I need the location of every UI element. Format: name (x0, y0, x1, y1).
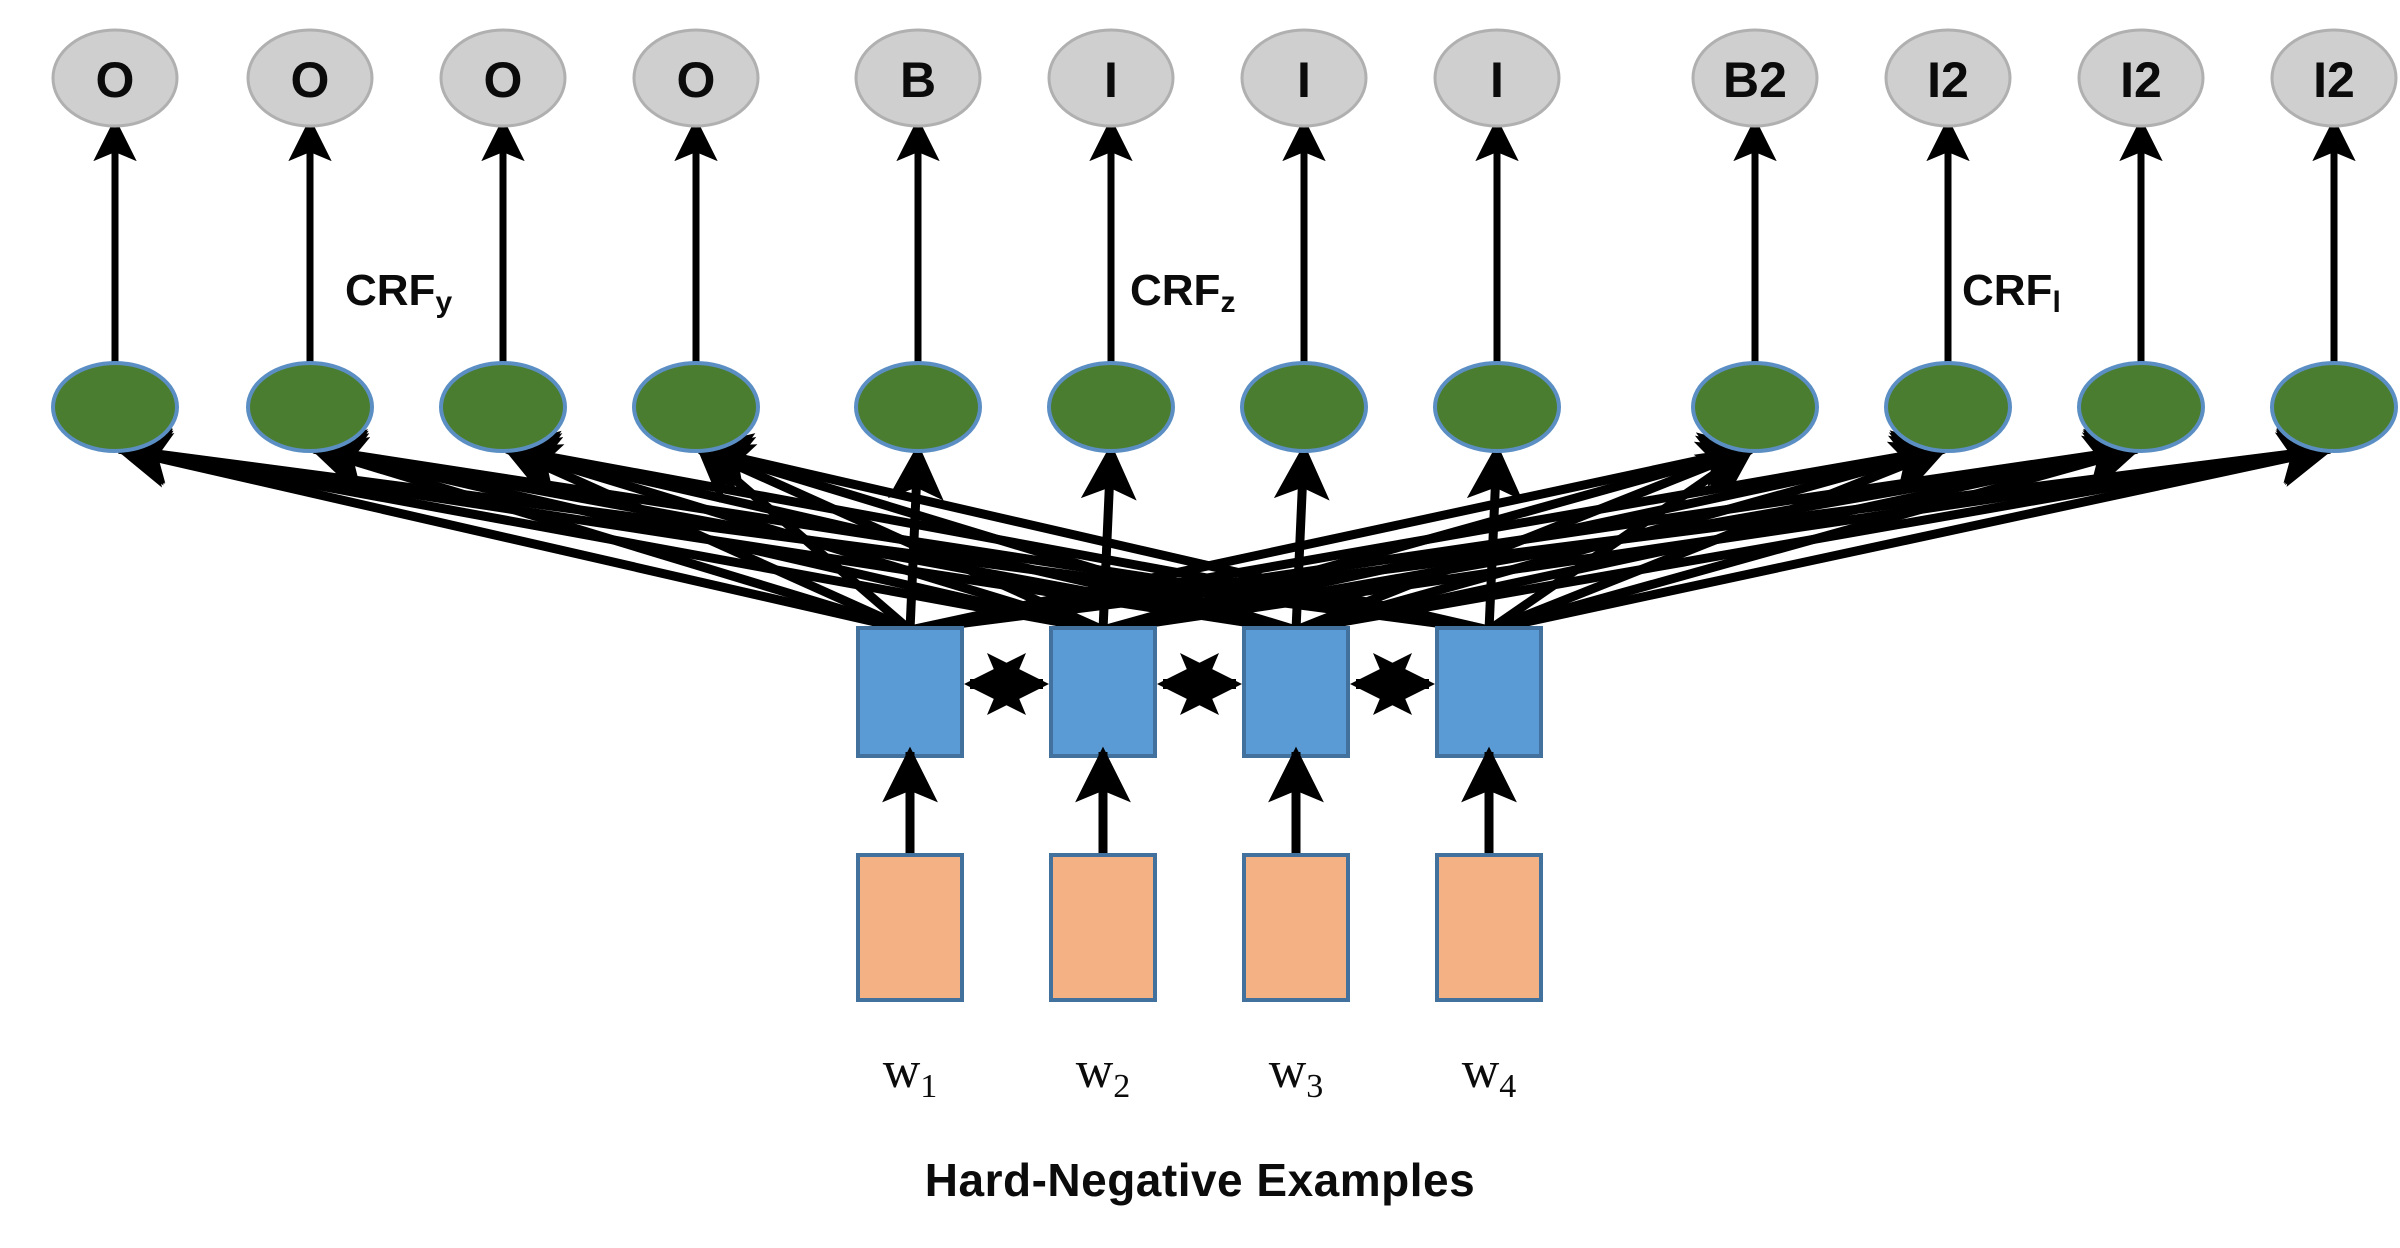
embedding-cell-1 (858, 855, 962, 1000)
hidden-node (1693, 363, 1817, 451)
crf-z-label: CRFz (1130, 266, 1235, 319)
tag-node-label: I (1490, 52, 1504, 108)
word-subscript: 2 (1113, 1068, 1130, 1105)
connection-arrow-vertical (910, 449, 918, 630)
crf-base: CRF (1130, 266, 1220, 315)
bilstm-cell-4 (1437, 628, 1541, 756)
tag-node-label: I2 (2313, 52, 2355, 108)
hidden-node (634, 363, 758, 451)
hidden-node (1886, 363, 2010, 451)
tag-node-label: B (900, 52, 936, 108)
hidden-node-layer (53, 363, 2396, 451)
hidden-node (1435, 363, 1559, 451)
crf-subscript: z (1220, 286, 1235, 319)
bilstm-layer (858, 628, 1541, 756)
crf-subscript: l (2052, 286, 2060, 319)
figure-canvas: OOOOBIIIB2I2I2I2 CRFyCRFzCRFl w1w2w3w4 H… (0, 0, 2400, 1248)
bilstm-cell-3 (1244, 628, 1348, 756)
hidden-node (2272, 363, 2396, 451)
word-token-1: w1 (883, 1042, 938, 1105)
tag-node-label: I2 (1927, 52, 1969, 108)
embedding-cell-2 (1051, 855, 1155, 1000)
word-token-2: w2 (1076, 1042, 1131, 1105)
crf-subscript: y (435, 286, 452, 319)
hidden-node (1242, 363, 1366, 451)
hidden-node (53, 363, 177, 451)
crf-base: CRF (345, 266, 435, 315)
tag-node-label: O (291, 52, 330, 108)
tag-node-label: O (96, 52, 135, 108)
neural-architecture-diagram: OOOOBIIIB2I2I2I2 CRFyCRFzCRFl w1w2w3w4 H… (0, 0, 2400, 1248)
crf-l-label: CRFl (1962, 266, 2061, 319)
word-base: w (1462, 1042, 1500, 1099)
bilstm-cell-1 (858, 628, 962, 756)
hidden-node (248, 363, 372, 451)
hidden-to-tag-arrows (115, 122, 2334, 367)
crf-label-layer: CRFyCRFzCRFl (345, 266, 2061, 319)
tag-node-label: I (1297, 52, 1311, 108)
bilstm-cell-2 (1051, 628, 1155, 756)
word-subscript: 1 (920, 1068, 937, 1105)
hidden-node (2079, 363, 2203, 451)
word-base: w (883, 1042, 921, 1099)
connection-arrow-vertical (1489, 449, 1497, 630)
word-base: w (1076, 1042, 1114, 1099)
word-token-layer: w1w2w3w4 (883, 1042, 1517, 1105)
crf-base: CRF (1962, 266, 2052, 315)
word-token-3: w3 (1269, 1042, 1324, 1105)
tag-node-label: I2 (2120, 52, 2162, 108)
tag-node-label: I (1104, 52, 1118, 108)
hidden-node (1049, 363, 1173, 451)
word-token-4: w4 (1462, 1042, 1517, 1105)
tag-node-label: B2 (1723, 52, 1787, 108)
tag-node-label: O (677, 52, 716, 108)
figure-caption: Hard-Negative Examples (925, 1154, 1475, 1206)
hidden-node (856, 363, 980, 451)
hidden-node (441, 363, 565, 451)
embedding-cell-4 (1437, 855, 1541, 1000)
tag-node-layer: OOOOBIIIB2I2I2I2 (53, 30, 2396, 126)
tag-node-label: O (484, 52, 523, 108)
word-subscript: 3 (1306, 1068, 1323, 1105)
word-base: w (1269, 1042, 1307, 1099)
crf-y-label: CRFy (345, 266, 452, 319)
embedding-cell-3 (1244, 855, 1348, 1000)
embedding-layer (858, 752, 1541, 1000)
bilstm-to-hidden-connections (119, 449, 2330, 630)
word-subscript: 4 (1499, 1068, 1516, 1105)
